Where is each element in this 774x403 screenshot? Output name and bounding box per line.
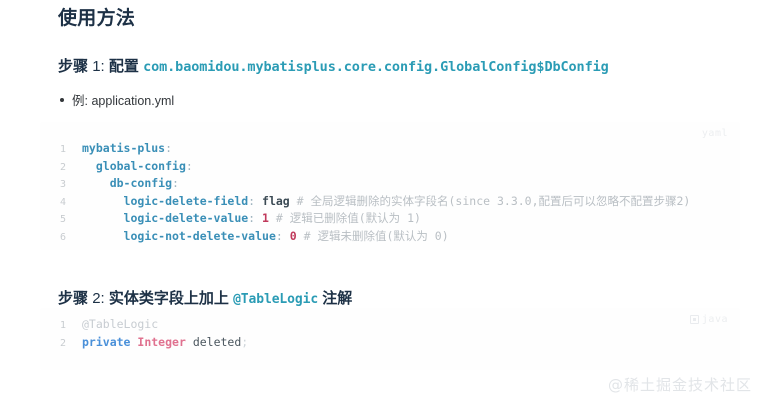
yaml-key: db-config <box>110 176 172 190</box>
code-line-content: logic-delete-value: 1 # 逻辑已删除值(默认为 1) <box>82 210 421 228</box>
yaml-key: mybatis-plus <box>82 141 165 155</box>
bullet-text: : application.yml <box>85 92 175 110</box>
code-line: 2 private Integer deleted; <box>40 334 740 352</box>
code-lines-yaml: 1 mybatis-plus: 2 global-config: 3 db-co… <box>40 140 740 245</box>
yaml-key: logic-delete-value <box>124 211 249 225</box>
yaml-value: 1 <box>262 211 269 225</box>
list-item-example: 例 : application.yml <box>60 92 174 110</box>
code-indent <box>82 194 124 208</box>
step-2-label: 步骤 <box>58 290 88 307</box>
code-indent <box>82 176 110 190</box>
document-page: 使用方法 步骤 1: 配置 com.baomidou.mybatisplus.c… <box>0 0 774 403</box>
line-number: 2 <box>40 335 82 353</box>
java-keyword: private <box>82 335 130 349</box>
line-number: 3 <box>40 176 82 194</box>
yaml-colon: : <box>248 194 262 208</box>
yaml-colon: : <box>172 176 179 190</box>
code-line: 4 logic-delete-field: flag # 全局逻辑删除的实体字段… <box>40 193 740 211</box>
code-language-label-yaml: yaml <box>702 128 728 139</box>
code-line: 2 global-config: <box>40 158 740 176</box>
code-line: 3 db-config: <box>40 175 740 193</box>
code-line-content: logic-delete-field: flag # 全局逻辑删除的实体字段名(… <box>82 193 690 211</box>
step-1-text: 配置 <box>109 58 139 75</box>
step-2-suffix: 注解 <box>322 290 352 307</box>
yaml-key: logic-not-delete-value <box>124 229 276 243</box>
code-line-content: logic-not-delete-value: 0 # 逻辑未删除值(默认为 0… <box>82 228 449 246</box>
yaml-colon: : <box>248 211 262 225</box>
code-indent <box>82 211 124 225</box>
watermark: @稀土掘金技术社区 <box>608 374 752 395</box>
line-number: 1 <box>40 141 82 159</box>
step-2-number: 2: <box>92 290 105 307</box>
line-number: 4 <box>40 194 82 212</box>
java-type: Integer <box>137 335 185 349</box>
yaml-comment: # 全局逻辑删除的实体字段名(since 3.3.0,配置后可以忽略不配置步骤2… <box>290 194 691 208</box>
step-1-inline-code: com.baomidou.mybatisplus.core.config.Glo… <box>143 59 609 75</box>
code-line-content: global-config: <box>82 158 193 176</box>
code-line: 1 mybatis-plus: <box>40 140 740 158</box>
step-1-number: 1: <box>92 58 105 75</box>
bullet-prefix: 例 <box>72 92 85 110</box>
code-line: 5 logic-delete-value: 1 # 逻辑已删除值(默认为 1) <box>40 210 740 228</box>
bullet-dot-icon <box>60 98 64 102</box>
java-identifier: deleted <box>193 335 241 349</box>
code-indent <box>82 159 96 173</box>
yaml-key: global-config <box>96 159 186 173</box>
line-number: 2 <box>40 159 82 177</box>
yaml-value: 0 <box>290 229 297 243</box>
yaml-colon: : <box>186 159 193 173</box>
code-indent <box>82 229 124 243</box>
yaml-value: flag <box>262 194 290 208</box>
code-line-content: mybatis-plus: <box>82 140 172 158</box>
code-block-yaml[interactable]: yaml 1 mybatis-plus: 2 global-config: 3 … <box>40 122 740 250</box>
java-semicolon: ; <box>241 335 248 349</box>
code-line: 1 @TableLogic <box>40 316 740 334</box>
code-lines-java: 1 @TableLogic 2 private Integer deleted; <box>40 316 740 351</box>
yaml-label-text: yaml <box>702 128 728 139</box>
line-number: 5 <box>40 211 82 229</box>
step-2-text: 实体类字段上加上 <box>109 290 229 307</box>
step-1-heading: 步骤 1: 配置 com.baomidou.mybatisplus.core.c… <box>58 56 609 78</box>
code-line: 6 logic-not-delete-value: 0 # 逻辑未删除值(默认为… <box>40 228 740 246</box>
yaml-comment: # 逻辑已删除值(默认为 1) <box>269 211 421 225</box>
code-block-java[interactable]: java 1 @TableLogic 2 private Integer del… <box>40 308 740 370</box>
line-number: 6 <box>40 229 82 247</box>
code-line-content: private Integer deleted; <box>82 334 248 352</box>
java-annotation: @TableLogic <box>82 317 158 331</box>
code-line-content: db-config: <box>82 175 179 193</box>
page-title: 使用方法 <box>58 6 135 32</box>
line-number: 1 <box>40 317 82 335</box>
step-2-inline-code: @TableLogic <box>233 292 318 307</box>
yaml-key: logic-delete-field <box>124 194 249 208</box>
code-line-content: @TableLogic <box>82 316 158 334</box>
step-1-label: 步骤 <box>58 58 88 75</box>
yaml-colon: : <box>165 141 172 155</box>
yaml-colon: : <box>276 229 290 243</box>
yaml-comment: # 逻辑未删除值(默认为 0) <box>297 229 449 243</box>
